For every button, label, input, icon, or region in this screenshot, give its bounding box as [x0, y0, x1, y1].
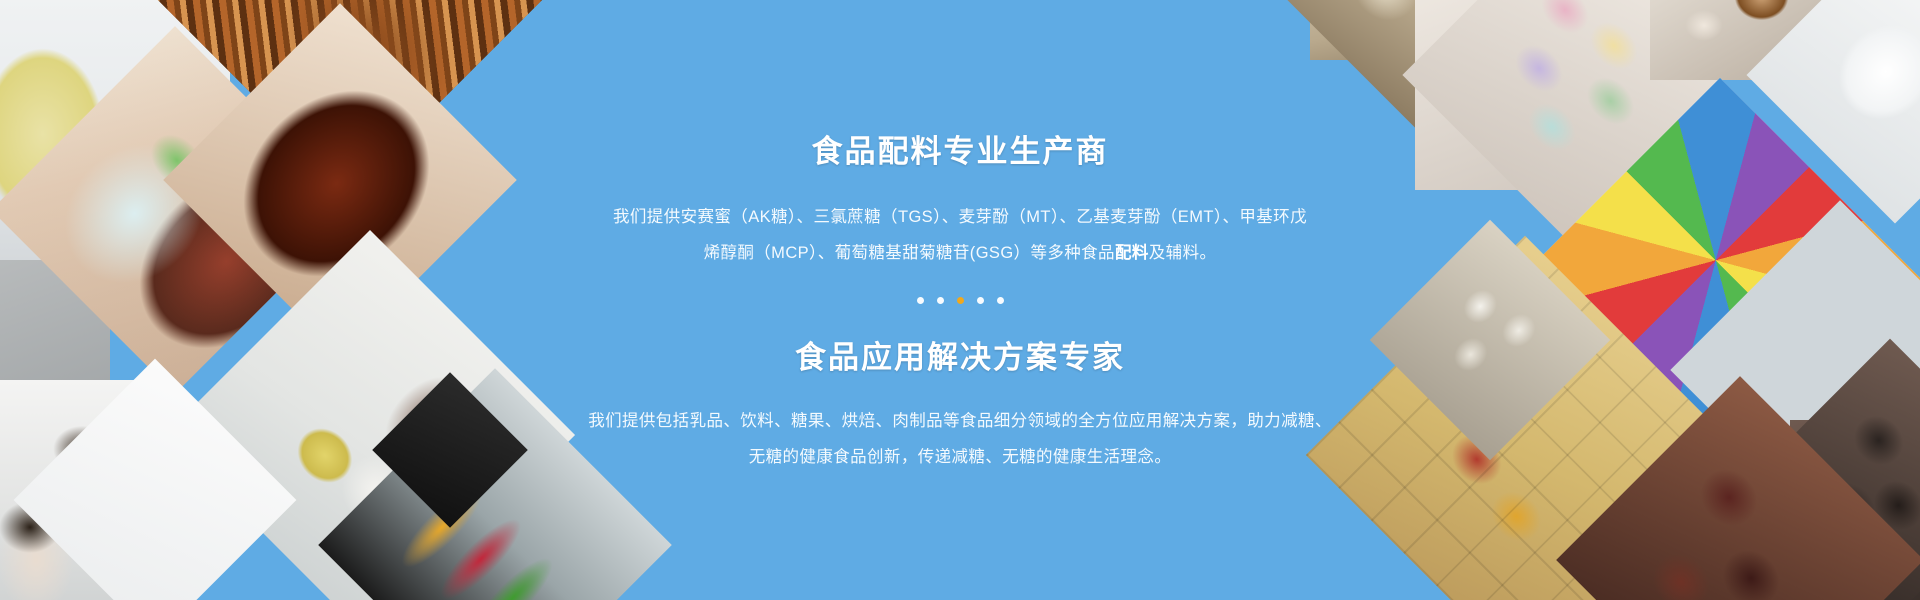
headline-producer: 食品配料专业生产商: [613, 126, 1307, 171]
paragraph-producer-line2a: 烯醇酮（MCP）、葡萄糖基甜菊糖苷(GSG）等多种食品: [704, 244, 1115, 262]
separator-dot-2: [937, 297, 944, 304]
paragraph-producer-line2c: 及辅料。: [1149, 244, 1217, 262]
content-block-solutions: 食品应用解决方案专家 我们提供包括乳品、饮料、糖果、烘焙、肉制品等食品细分领域的…: [588, 332, 1332, 475]
separator-dot-4: [977, 297, 984, 304]
headline-solutions: 食品应用解决方案专家: [588, 332, 1332, 377]
paragraph-producer-emphasis: 配料: [1115, 244, 1149, 262]
banner-content: 食品配料专业生产商 我们提供安赛蜜（AK糖）、三氯蔗糖（TGS）、麦芽酚（MT）…: [430, 0, 1490, 600]
separator-dot-1: [917, 297, 924, 304]
paragraph-producer-line1: 我们提供安赛蜜（AK糖）、三氯蔗糖（TGS）、麦芽酚（MT）、乙基麦芽酚（EMT…: [613, 208, 1307, 226]
paragraph-producer: 我们提供安赛蜜（AK糖）、三氯蔗糖（TGS）、麦芽酚（MT）、乙基麦芽酚（EMT…: [613, 199, 1307, 271]
paragraph-solutions-line2: 无糖的健康食品创新，传递减糖、无糖的健康生活理念。: [749, 448, 1172, 466]
paragraph-solutions: 我们提供包括乳品、饮料、糖果、烘焙、肉制品等食品细分领域的全方位应用解决方案，助…: [588, 403, 1332, 475]
dot-separator: [917, 297, 1004, 304]
hero-banner: 食品配料专业生产商 我们提供安赛蜜（AK糖）、三氯蔗糖（TGS）、麦芽酚（MT）…: [0, 0, 1920, 600]
separator-dot-5: [997, 297, 1004, 304]
separator-dot-3-accent: [957, 297, 964, 304]
content-block-producer: 食品配料专业生产商 我们提供安赛蜜（AK糖）、三氯蔗糖（TGS）、麦芽酚（MT）…: [613, 126, 1307, 271]
paragraph-solutions-line1: 我们提供包括乳品、饮料、糖果、烘焙、肉制品等食品细分领域的全方位应用解决方案，助…: [588, 412, 1332, 430]
